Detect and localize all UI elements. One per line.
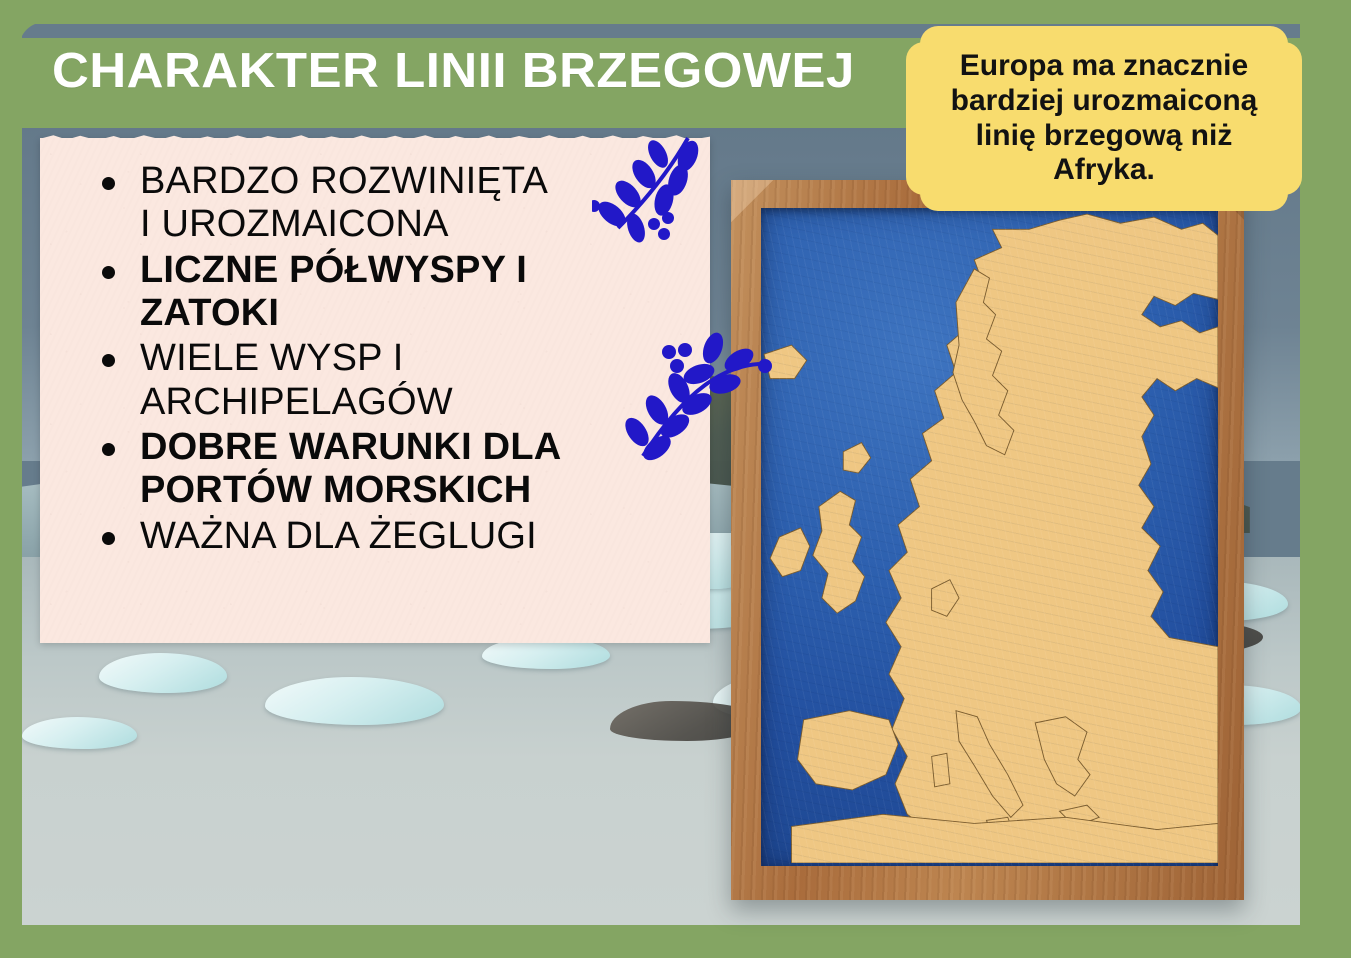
iberian-peninsula [798,711,899,790]
north-africa [791,814,1218,863]
list-item: WAŻNA DLA ŻEGLUGI [98,515,560,558]
sicily [986,817,1013,835]
bullet-text: WIELE WYSP I ARCHIPELAGÓW [140,337,453,422]
photo-iceberg [99,653,227,693]
green-border-top [0,0,1351,24]
list-item: LICZNE PÓŁWYSPY I ZATOKI [98,249,560,336]
photo-iceberg [22,717,137,749]
norway-fjords [953,269,1014,455]
slide-canvas: CHARAKTER LINII BRZEGOWEJ [0,0,1351,958]
denmark [932,580,959,617]
green-border-left [0,0,22,958]
callout-text: Europa ma znacznie bardziej urozmaiconą … [906,26,1302,211]
bullet-text: BARDZO ROZWINIĘTA I UROZMAICONA [140,160,546,245]
europe-main-landmass [886,214,1218,863]
list-item: DOBRE WARUNKI DLA PORTÓW MORSKICH [98,426,560,513]
europe-map [761,208,1218,866]
bullet-text: WAŻNA DLA ŻEGLUGI [140,515,537,557]
list-item: WIELE WYSP I ARCHIPELAGÓW [98,337,560,424]
scotland-islands [843,443,870,473]
europe-landmass-shapes [761,208,1218,863]
bullet-paper-card: BARDZO ROZWINIĘTA I UROZMAICONA LICZNE P… [40,138,710,643]
green-border-bottom [0,925,1351,958]
great-britain [813,491,865,613]
sardinia-corsica [932,753,950,787]
green-border-right [1300,0,1351,958]
page-title: CHARAKTER LINII BRZEGOWEJ [52,46,915,97]
balkan-peninsula [1035,717,1090,796]
italy [956,711,1023,818]
list-item: BARDZO ROZWINIĘTA I UROZMAICONA [98,160,560,247]
yellow-callout: Europa ma znacznie bardziej urozmaiconą … [906,26,1302,211]
bullet-text: DOBRE WARUNKI DLA PORTÓW MORSKICH [140,426,560,511]
map-picture-frame [731,180,1244,900]
crete [1060,805,1100,826]
feature-bullet-list: BARDZO ROZWINIĘTA I UROZMAICONA LICZNE P… [98,160,560,560]
ireland [770,528,810,577]
iceland [764,345,807,379]
bullet-text: LICZNE PÓŁWYSPY I ZATOKI [140,249,527,334]
